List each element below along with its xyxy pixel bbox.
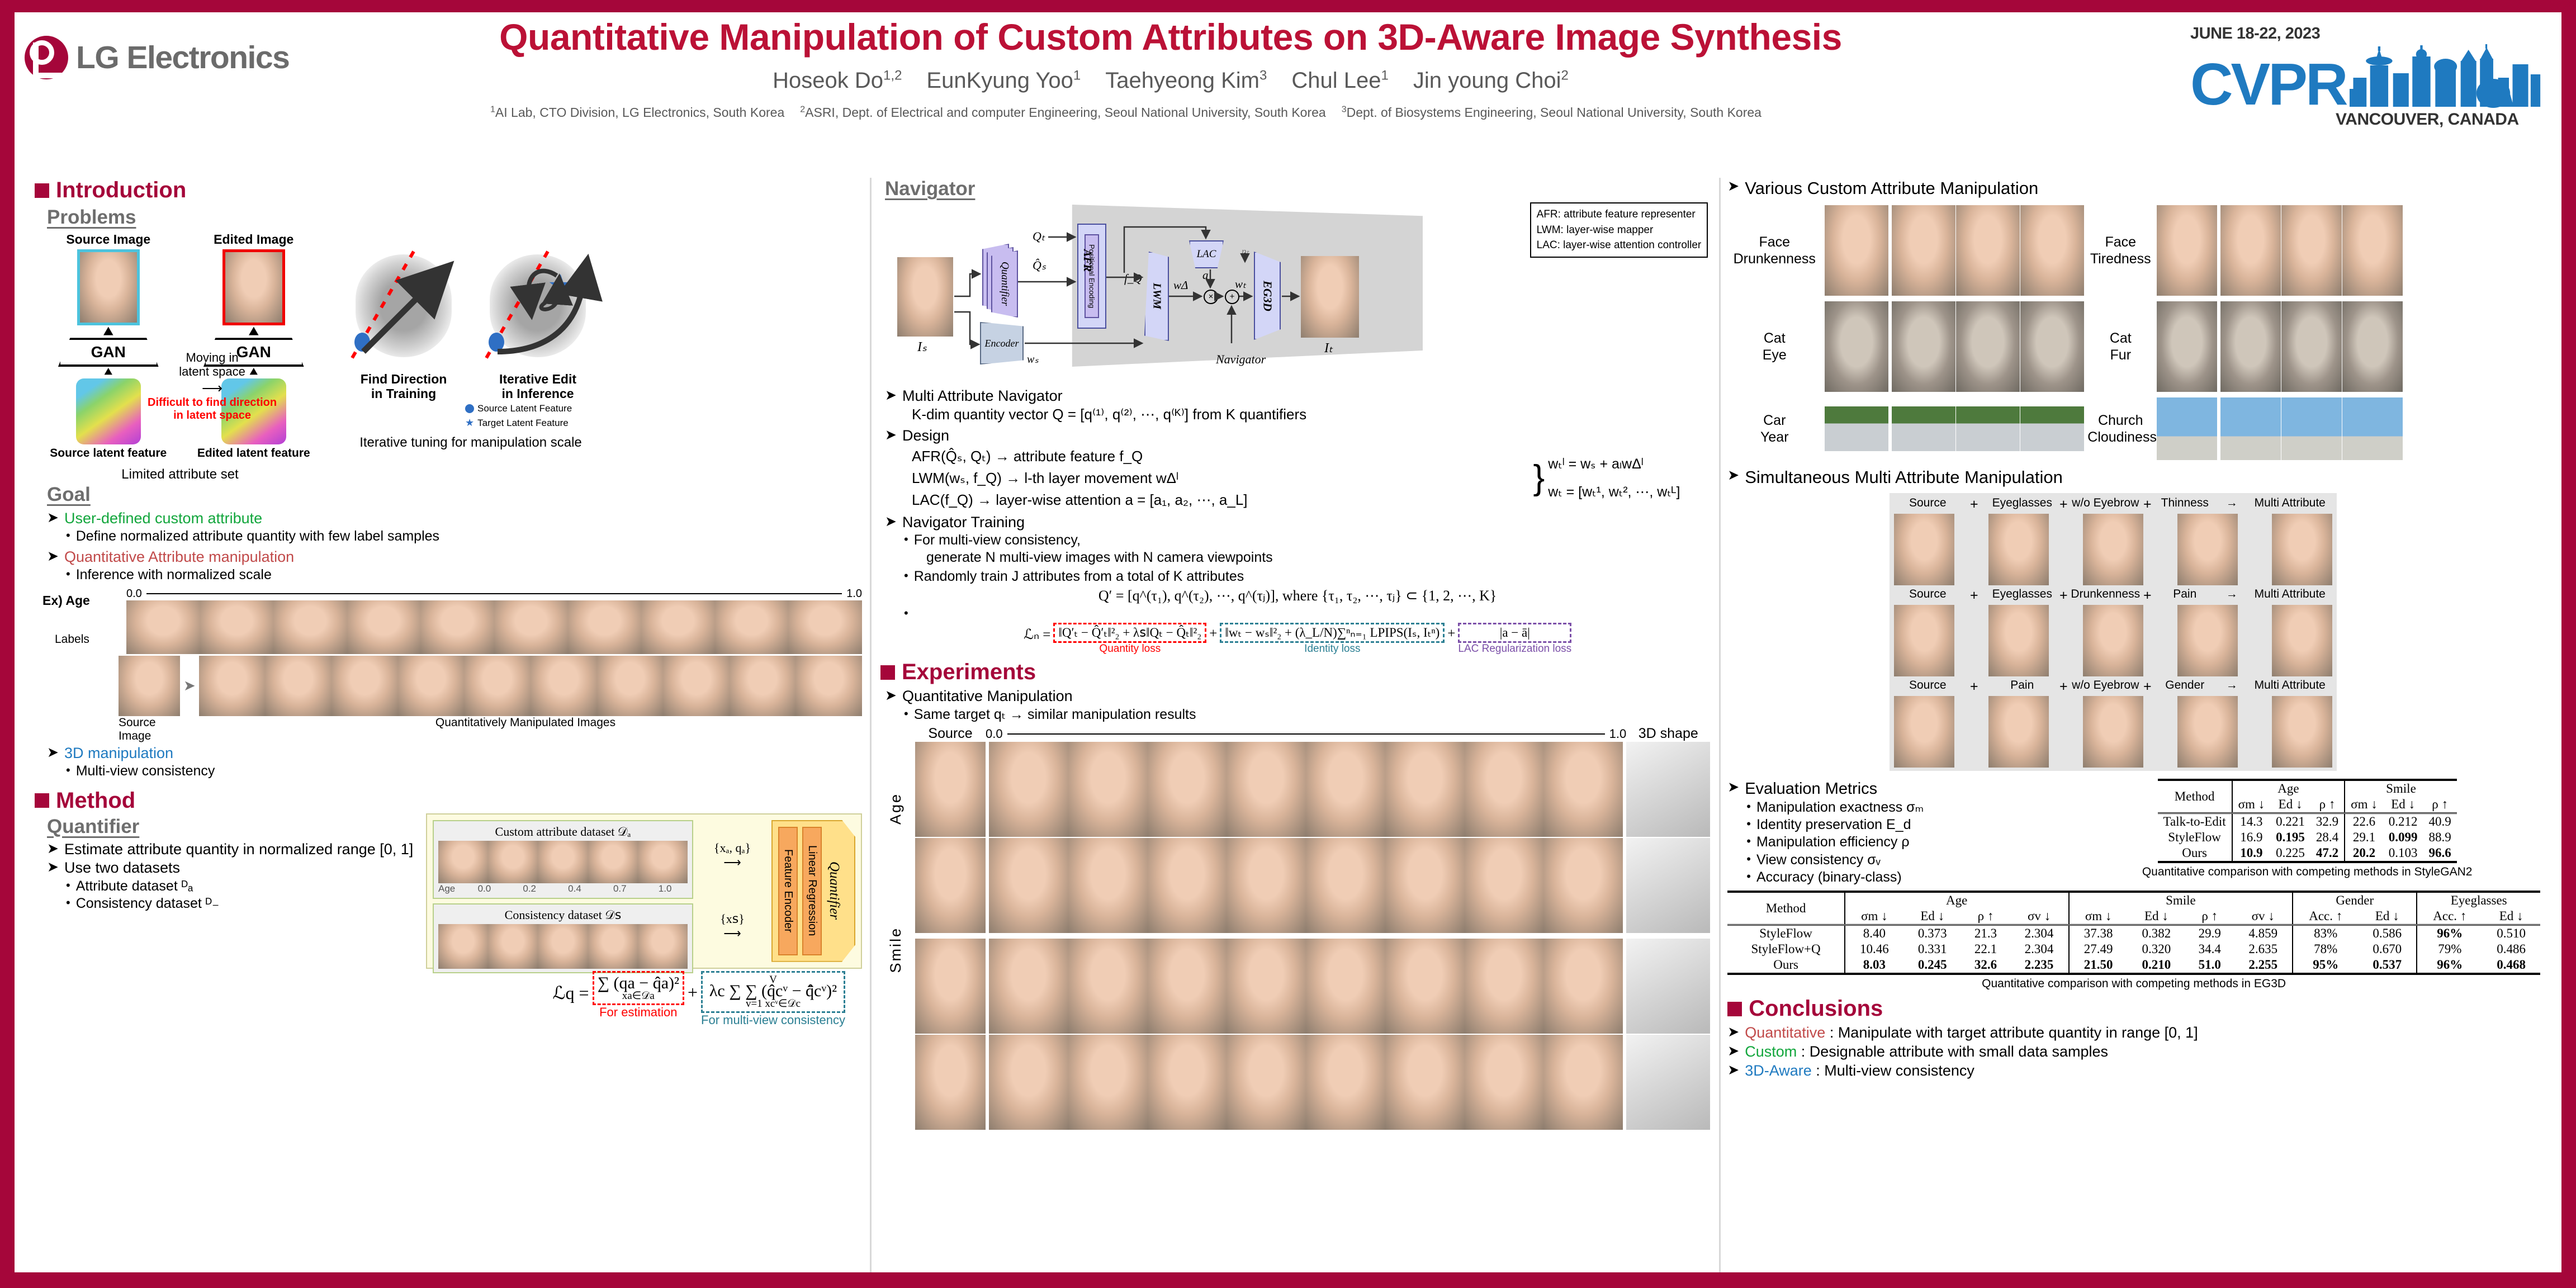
mid-sub-2: • Randomly train J attributes from a tot…	[904, 568, 1710, 585]
age-axis-label: Age	[438, 883, 462, 894]
section-introduction: Introduction	[35, 178, 862, 203]
sim-r1-l1: +	[1961, 496, 1987, 513]
brace-icon: }	[1533, 464, 1545, 492]
loss-term-estimation: ∑ (qa − q̂a)² xa∈𝒟a	[593, 971, 684, 1005]
sim-row-2-images	[1894, 605, 2332, 676]
t2-r1-v0: 10.46	[1845, 941, 1903, 957]
mid-design-lwm: LWM(wₛ, f_Q) → l-th layer movement wΔˡ	[912, 467, 1530, 489]
eval-item-1-text: Manipulation exactness σₘ	[1756, 799, 1924, 816]
up-arrow-icon-3: ⯅	[197, 325, 310, 338]
arrow-bullet-icon-5: ➤	[47, 859, 59, 875]
goal-item-2-text: Quantitative Attribute manipulation	[64, 548, 294, 567]
right-title-simultaneous: ➤ Simultaneous Multi Attribute Manipulat…	[1727, 467, 2540, 489]
loss-plus-sign: +	[688, 971, 698, 1003]
goal-item-1-text: User-defined custom attribute	[64, 509, 262, 528]
mid-bullet-3: ➤ Navigator Training	[885, 513, 1710, 532]
sim-r3-l0: Source	[1894, 679, 1961, 695]
various-label-3a: Car	[1727, 412, 1821, 429]
exp-sub-1-text: Same target qₜ → similar manipulation re…	[914, 706, 1196, 723]
legend-target-latent: Target Latent Feature	[477, 416, 569, 430]
edited-latent-label: Edited latent feature	[197, 447, 310, 460]
dot-bullet-icon-m1: •	[904, 532, 908, 547]
t2-r2-v11: 0.468	[2482, 957, 2540, 974]
t2-c6: Ed ↓	[2128, 908, 2186, 925]
conclusion-2-key: Custom	[1745, 1043, 1797, 1060]
section-title-conclusions: Conclusions	[1749, 996, 1883, 1021]
training-loss-lab1: Quantity loss	[1053, 643, 1206, 655]
quantifier-item-1-text: Estimate attribute quantity in normalize…	[64, 840, 413, 859]
results-table-eg3d: Method Age Smile Gender Eyeglasses σm ↓ …	[1727, 891, 2540, 975]
quantifier-sub-2: • Consistency dataset ᴰ₋	[66, 895, 426, 912]
section-title-method: Method	[56, 788, 135, 813]
results-table-stylegan2: Method Age Smile σm ↓ Ed ↓ ρ ↑ σm ↓ Ed ↓…	[2158, 779, 2457, 863]
age-val-1: 0.2	[507, 883, 552, 894]
sim-r1-l8: Multi Attribute	[2247, 496, 2332, 513]
t2-r2-v7: 2.255	[2234, 957, 2293, 974]
t2-h-age: Age	[1845, 892, 2069, 908]
various-row-1: Face Drunkenness Face Tiredness	[1727, 205, 2540, 296]
training-loss-lab2: Identity loss	[1220, 643, 1445, 655]
age-labels-strip	[126, 600, 862, 654]
navigator-diagram: AFR: attribute feature representer LWM: …	[880, 200, 1710, 385]
right-arrow-icon-age: ➤	[183, 656, 196, 716]
subsection-goal: Goal	[47, 484, 91, 506]
age-val-2: 0.4	[552, 883, 598, 894]
t1-c4: σm ↓	[2345, 797, 2383, 813]
eval-item-3: •Manipulation efficiency ρ	[1746, 834, 2074, 851]
section-method: Method	[35, 788, 862, 813]
simultaneous-grid: Source + Eyeglasses + w/o Eyebrow + Thin…	[1890, 493, 2337, 771]
eval-item-5-text: Accuracy (binary-class)	[1756, 869, 1902, 886]
t2-r1-v3: 2.304	[2010, 941, 2069, 957]
table-row: StyleFlow+Q 10.46 0.331 22.1 2.304 27.49…	[1727, 941, 2540, 957]
t2-r0-v5: 0.382	[2128, 925, 2186, 942]
panel1-label-line2: in Training	[339, 386, 468, 401]
scatter-iterative-edit: ★	[473, 242, 603, 371]
various-label-3d: Cloudiness	[2087, 429, 2153, 446]
t2-r2-v10: 96%	[2417, 957, 2482, 974]
conference-location: VANCOUVER, CANADA	[2336, 110, 2542, 129]
mid-bullet-1-text: Multi Attribute Navigator	[902, 387, 1063, 406]
t2-c5: σm ↓	[2069, 908, 2128, 925]
t2-r1-v5: 0.320	[2128, 941, 2186, 957]
loss-label-estimation: For estimation	[593, 1005, 684, 1020]
section-bullet-square-4	[1727, 1002, 1742, 1016]
author: EunKyung Yoo1	[926, 68, 1081, 93]
feature-encoder-block: Feature Encoder	[778, 827, 798, 955]
panel2-label-line1: Iterative Edit	[473, 372, 603, 386]
t2-r2-v0: 8.03	[1845, 957, 1903, 974]
t1-r2-v1: 0.225	[2270, 845, 2310, 862]
column-left: Introduction Problems Source Image ⯅ GAN…	[29, 178, 870, 1272]
goal-sub-1-text: Define normalized attribute quantity wit…	[76, 528, 439, 545]
loss-term-consistency: V λc ∑ ∑ (q̂cᵛ − q̄̂cᵛ)² v=1 xcᵛ∈𝒟c	[701, 971, 845, 1013]
exp-bullet-1-text: Quantitative Manipulation	[902, 687, 1073, 706]
column-middle: Navigator AFR: attribute feature represe…	[870, 178, 1721, 1272]
conference-name: CVPR	[2190, 60, 2346, 109]
dot-icon-ev1: •	[1746, 799, 1751, 815]
eval-item-3-text: Manipulation efficiency ρ	[1756, 834, 1910, 851]
conclusion-3-key: 3D-Aware	[1745, 1062, 1812, 1079]
poster-root: LG Electronics Quantitative Manipulation…	[0, 0, 2576, 1288]
label-It: Iₜ	[1324, 340, 1333, 356]
latent-space-source	[76, 378, 141, 444]
quantifier-sub-1-text: Attribute dataset ᴰₐ	[76, 878, 193, 895]
mid-brace-eq-1: wₜˡ = wₛ + aₗwΔˡ	[1548, 450, 1710, 478]
mid-sub-3: •	[904, 605, 1710, 621]
conclusion-2-rest: : Designable attribute with small data s…	[1797, 1043, 2108, 1060]
scale-axis	[146, 593, 842, 594]
exp-row-smile-2	[915, 1035, 1710, 1130]
section-title-experiments: Experiments	[902, 660, 1036, 685]
various-label-2b: Eye	[1727, 347, 1821, 363]
t2-r0-v6: 29.9	[2185, 925, 2234, 942]
t2-c4: σv ↓	[2010, 908, 2069, 925]
arrow-bullet-icon-c3: ➤	[1727, 1062, 1739, 1078]
arrow-top-label: {xₐ, qₐ}	[699, 841, 766, 855]
various-label-1b: Drunkenness	[1727, 250, 1821, 267]
t1-c2: Ed ↓	[2270, 797, 2310, 813]
mid-sub-2-text: Randomly train J attributes from a total…	[914, 568, 1244, 585]
eval-item-1: •Manipulation exactness σₘ	[1746, 799, 2074, 816]
sim-r3-l4: w/o Eyebrow	[2070, 679, 2141, 695]
source-image-thumb	[77, 249, 140, 325]
exp-row-age-1	[915, 742, 1710, 837]
t1-r1-m: StyleFlow	[2158, 830, 2232, 845]
t2-r0-v3: 2.304	[2010, 925, 2069, 942]
arrow-bullet-icon-e1: ➤	[885, 687, 897, 704]
t2-h-smile: Smile	[2069, 892, 2293, 908]
age-val-0: 0.0	[462, 883, 507, 894]
t2-r1-v8: 78%	[2293, 941, 2358, 957]
dot-bullet-icon-e1: •	[904, 706, 908, 722]
goal-sub-1: • Define normalized attribute quantity w…	[66, 528, 862, 545]
dot-bullet-icon-m2: •	[904, 568, 908, 584]
table-row: Ours 8.03 0.245 32.6 2.235 21.50 0.210 5…	[1727, 957, 2540, 974]
table-row: StyleFlow 8.40 0.373 21.3 2.304 37.38 0.…	[1727, 925, 2540, 942]
exp-sub-1: • Same target qₜ → similar manipulation …	[904, 706, 1710, 723]
arrow-bullet-icon-r2: ➤	[1727, 467, 1739, 484]
tl-plus2: +	[1447, 623, 1455, 642]
edited-image-label: Edited Image	[197, 232, 310, 247]
loss-label-consistency: For multi-view consistency	[701, 1013, 845, 1027]
sim-r2-l7: →	[2216, 588, 2247, 604]
top-accent-band	[15, 0, 2561, 12]
t1-r1-v2: 28.4	[2310, 830, 2345, 845]
section-conclusions: Conclusions	[1727, 996, 2540, 1021]
t2-h-method: Method	[1727, 892, 1845, 925]
arrow-bullet-icon-2: ➤	[47, 548, 59, 565]
section-bullet-square	[35, 183, 49, 198]
age-val-4: 1.0	[642, 883, 688, 894]
up-arrow-icon: ⯅	[50, 325, 167, 338]
t2-c7: ρ ↑	[2185, 908, 2234, 925]
author: Jin young Choi2	[1413, 68, 1569, 93]
vancouver-skyline-icon	[2350, 43, 2542, 109]
arrow-bullet-icon-r1: ➤	[1727, 178, 1739, 195]
goal-item-3-text: 3D manipulation	[64, 744, 173, 763]
sim-r1-l3: +	[2057, 496, 2070, 513]
manipulated-caption: Quantitatively Manipulated Images	[189, 716, 862, 743]
t2-r1-v10: 79%	[2417, 941, 2482, 957]
conclusion-2: ➤ Custom : Designable attribute with sma…	[1727, 1043, 2540, 1062]
difficult-label-line2: in latent space	[148, 409, 277, 422]
sim-r2-l1: +	[1961, 588, 1987, 604]
goal-sub-2-text: Inference with normalized scale	[76, 566, 272, 584]
t2-h-gender: Gender	[2293, 892, 2417, 908]
arrow-bullet-icon-m1: ➤	[885, 387, 897, 404]
dot-icon-ev5: •	[1746, 869, 1751, 884]
mid-design-lac: LAC(f_Q) → layer-wise attention a = [a₁,…	[912, 489, 1530, 511]
t2-r0-v11: 0.510	[2482, 925, 2540, 942]
dot-icon-ev4: •	[1746, 851, 1751, 867]
t2-r1-v11: 0.486	[2482, 941, 2540, 957]
quantifier-sub-1: • Attribute dataset ᴰₐ	[66, 878, 426, 895]
mid-brace-eq-2: wₜ = [wₜ¹, wₜ², ⋯, wₜᴸ]	[1548, 478, 1710, 506]
table-row: StyleFlow 16.9 0.195 28.4 29.1 0.099 88.…	[2158, 830, 2457, 845]
t2-c3: ρ ↑	[1962, 908, 2010, 925]
lg-logo-icon	[25, 36, 68, 79]
moving-label-line1: Moving in	[148, 351, 277, 364]
mid-bullet-1: ➤ Multi Attribute Navigator	[885, 387, 1710, 406]
eval-item-4-text: View consistency σᵥ	[1756, 851, 1881, 869]
goal-sub-3: • Multi-view consistency	[66, 763, 862, 780]
arrow-bullet-icon-4: ➤	[47, 840, 59, 857]
author: Hoseok Do1,2	[773, 68, 902, 93]
legend-dot-icon	[465, 404, 474, 413]
training-loss-part2: ‖wₜ − wₛ‖²₂ + (λ_L/N)∑ⁿₙ₌₁ LPIPS(Iₛ, Iₜⁿ…	[1220, 623, 1445, 643]
conclusion-3-rest: : Multi-view consistency	[1812, 1062, 1974, 1079]
quantifier-item-2-text: Use two datasets	[64, 859, 180, 878]
t2-c8: σv ↓	[2234, 908, 2293, 925]
exp-shape-header: 3D shape	[1626, 726, 1710, 742]
source-image-label: Source Image	[50, 232, 167, 247]
right-arrow-icon: ⟶	[148, 380, 277, 397]
exp-row-label-age: Age	[887, 793, 905, 825]
dot-bullet-icon-3: •	[66, 763, 70, 778]
t1-r2-v3: 20.2	[2345, 845, 2383, 862]
mid-bullet-2: ➤ Design	[885, 427, 1710, 446]
table1-caption: Quantitative comparison with competing m…	[2074, 865, 2540, 879]
t2-r0-v9: 0.586	[2358, 925, 2417, 942]
sim-r1-l4: w/o Eyebrow	[2070, 496, 2141, 513]
ex-age-label: Ex) Age	[42, 593, 119, 608]
various-label-3c: Church	[2087, 412, 2153, 429]
t2-r0-v10: 96%	[2417, 925, 2482, 942]
t2-r0-v0: 8.40	[1845, 925, 1903, 942]
age-val-3: 0.7	[597, 883, 642, 894]
section-bullet-square-3	[880, 665, 895, 680]
t1-r0-v4: 0.212	[2383, 813, 2423, 830]
exp-scale-max: 1.0	[1609, 727, 1627, 741]
sim-r2-l0: Source	[1894, 588, 1961, 604]
scale-max-label: 1.0	[846, 588, 862, 600]
t2-h-eyeglasses: Eyeglasses	[2417, 892, 2540, 908]
t1-r0-v3: 22.6	[2345, 813, 2383, 830]
legend-source-latent: Source Latent Feature	[477, 401, 572, 416]
eval-item-4: •View consistency σᵥ	[1746, 851, 2074, 869]
gan-block-source: GAN	[58, 338, 159, 367]
t1-r1-v3: 29.1	[2345, 830, 2383, 845]
t1-r2-v2: 47.2	[2310, 845, 2345, 862]
t1-r1-v0: 16.9	[2232, 830, 2271, 845]
sim-row-1-images	[1894, 514, 2332, 585]
caption-iterative-tuning: Iterative tuning for manipulation scale	[325, 435, 616, 451]
arrow-bullet-icon-m3: ➤	[885, 513, 897, 530]
sim-r2-l6: Pain	[2153, 588, 2216, 604]
quantifier-item-2: ➤ Use two datasets	[47, 859, 426, 878]
sim-r1-l2: Eyeglasses	[1987, 496, 2057, 513]
t1-r0-m: Talk-to-Edit	[2158, 813, 2232, 830]
arrow-bullet-icon-c1: ➤	[1727, 1024, 1739, 1040]
conclusion-1-key: Quantitative	[1745, 1024, 1825, 1041]
dot-icon-ev3: •	[1746, 834, 1751, 849]
t2-r2-v5: 0.210	[2128, 957, 2186, 974]
eval-item-2-text: Identity preservation E_d	[1756, 816, 1911, 834]
training-loss-part1: ‖Q′ₜ − Q̂′ₜ‖²₂ + λꜱ‖Qₜ − Q̂ₜ‖²₂	[1053, 623, 1206, 643]
section-experiments: Experiments	[880, 660, 1710, 685]
t2-r2-v3: 2.235	[2010, 957, 2069, 974]
page-title: Quantitative Manipulation of Custom Attr…	[171, 18, 2170, 56]
sim-row-3-images	[1894, 696, 2332, 768]
t2-r2-v4: 21.50	[2069, 957, 2128, 974]
t2-r0-v8: 83%	[2293, 925, 2358, 942]
section-bullet-square-2	[35, 793, 49, 808]
sim-r3-l6: Gender	[2153, 679, 2216, 695]
subsection-problems: Problems	[47, 206, 136, 229]
t1-r2-m: Ours	[2158, 845, 2232, 862]
sim-r2-l3: +	[2057, 588, 2070, 604]
affiliation-list: 1AI Lab, CTO Division, LG Electronics, S…	[48, 105, 2204, 120]
eval-title: ➤ Evaluation Metrics	[1727, 779, 2074, 799]
t2-r1-m: StyleFlow+Q	[1727, 941, 1845, 957]
t1-h-smile: Smile	[2345, 780, 2457, 797]
table2-caption: Quantitative comparison with competing m…	[1727, 977, 2540, 991]
subsection-navigator: Navigator	[885, 178, 975, 200]
mid-qprime-eq: Q′ = [q^(τ₁), q^(τ₂), ⋯, q^(τⱼ)], where …	[885, 588, 1710, 604]
author: Taehyeong Kim3	[1105, 68, 1267, 93]
various-row-3: Car Year Church Cloudiness	[1727, 397, 2540, 460]
caption-limited-attribute-set: Limited attribute set	[35, 467, 325, 482]
t2-c2: Ed ↓	[1903, 908, 1962, 925]
scale-min-label: 0.0	[126, 588, 142, 600]
t2-c10: Ed ↓	[2358, 908, 2417, 925]
goal-item-1: ➤ User-defined custom attribute	[47, 509, 862, 528]
arrow-bullet-icon-c2: ➤	[1727, 1043, 1739, 1059]
mid-design-afr: AFR(Q̂ₛ, Qₜ) → attribute feature f_Q	[912, 446, 1530, 467]
section-title-text: Introduction	[56, 178, 186, 203]
arrow-right-icon-q2: ⟶	[699, 926, 766, 941]
legend-star-icon: ★	[465, 415, 474, 430]
quantifier-diagram: Custom attribute dataset 𝒟ₐ Age 0.0 0	[426, 813, 862, 969]
t2-r1-v2: 22.1	[1962, 941, 2010, 957]
attr-dataset-strip	[438, 841, 688, 883]
t1-r2-v0: 10.9	[2232, 845, 2271, 862]
source-latent-label: Source latent feature	[50, 447, 167, 460]
t2-c9: Acc. ↑	[2293, 908, 2358, 925]
table-row: Ours 10.9 0.225 47.2 20.2 0.103 96.6	[2158, 845, 2457, 862]
sim-r1-l0: Source	[1894, 496, 1961, 513]
t2-r2-v2: 32.6	[1962, 957, 2010, 974]
sim-r2-l5: +	[2141, 588, 2153, 604]
dot-bullet-icon-2: •	[66, 566, 70, 582]
exp-row-label-smile: Smile	[887, 927, 905, 973]
t1-c6: ρ ↑	[2423, 797, 2456, 813]
t1-h-method: Method	[2158, 780, 2232, 813]
t2-c11: Acc. ↑	[2417, 908, 2482, 925]
arrow-bullet-icon: ➤	[47, 509, 59, 526]
t1-r0-v1: 0.221	[2270, 813, 2310, 830]
source-image-age	[119, 656, 180, 716]
various-label-2d: Fur	[2087, 347, 2153, 363]
exp-bullet-1: ➤ Quantitative Manipulation	[885, 687, 1710, 706]
various-label-2c: Cat	[2087, 330, 2153, 347]
conclusion-1-rest: : Manipulate with target attribute quant…	[1825, 1024, 2198, 1041]
t1-h-age: Age	[2232, 780, 2345, 797]
right-title-various-text: Various Custom Attribute Manipulation	[1745, 178, 2038, 200]
t1-r0-v0: 14.3	[2232, 813, 2271, 830]
eval-item-5: •Accuracy (binary-class)	[1746, 869, 2074, 886]
training-loss-lhs: ℒₙ =	[1024, 623, 1050, 643]
t2-r1-v6: 34.4	[2185, 941, 2234, 957]
author: Chul Lee1	[1291, 68, 1388, 93]
panel2-label-line2: in Inference	[473, 386, 603, 401]
affiliation: 3Dept. of Biosystems Engineering, Seoul …	[1342, 105, 1761, 120]
various-label-1a: Face	[1727, 234, 1821, 250]
quantifier-block-name: Quantifier	[826, 861, 842, 920]
various-row-2: Cat Eye Cat Fur	[1727, 301, 2540, 392]
t2-r0-v4: 37.38	[2069, 925, 2128, 942]
t2-r0-v2: 21.3	[1962, 925, 2010, 942]
t1-r1-v1: 0.195	[2270, 830, 2310, 845]
sim-r2-l4: Drunkenness	[2070, 588, 2141, 604]
dot-bullet-icon-4: •	[66, 878, 70, 893]
training-loss-lab3: LAC Regularization loss	[1458, 643, 1571, 655]
various-label-1c: Face	[2087, 234, 2153, 250]
column-right: ➤ Various Custom Attribute Manipulation …	[1721, 178, 2547, 1272]
dot-bullet-icon-5: •	[66, 895, 70, 911]
exp-source-header: Source	[915, 726, 986, 742]
t1-c5: Ed ↓	[2383, 797, 2423, 813]
t1-r2-v4: 0.103	[2383, 845, 2423, 862]
dot-bullet-icon: •	[66, 528, 70, 543]
t1-r0-v2: 32.9	[2310, 813, 2345, 830]
exp-scale-axis	[1007, 733, 1605, 735]
quantifier-sub-2-text: Consistency dataset ᴰ₋	[76, 895, 220, 912]
t1-r2-v5: 96.6	[2423, 845, 2456, 862]
affiliation: 1AI Lab, CTO Division, LG Electronics, S…	[490, 105, 784, 120]
training-loss-part3: |a − ā|	[1458, 623, 1571, 643]
eval-title-text: Evaluation Metrics	[1745, 779, 1877, 799]
edited-image-thumb	[222, 249, 285, 325]
arrow-bullet-icon-r3: ➤	[1727, 779, 1739, 795]
t2-r2-v1: 0.245	[1903, 957, 1962, 974]
sim-r1-l6: Thinness	[2153, 496, 2216, 513]
moving-label-line2: latent space	[148, 364, 277, 378]
t2-r2-v8: 95%	[2293, 957, 2358, 974]
labels-row-label: Labels	[55, 633, 119, 646]
tl-plus1: +	[1209, 623, 1217, 642]
various-label-1d: Tiredness	[2087, 250, 2153, 267]
sim-r2-l2: Eyeglasses	[1987, 588, 2057, 604]
arrow-right-icon-q1: ⟶	[699, 855, 766, 870]
various-label-3b: Year	[1727, 429, 1821, 446]
arrow-bullet-icon-m2: ➤	[885, 427, 897, 443]
cons-dataset-title: Consistency dataset 𝒟ꜱ	[438, 908, 688, 922]
t2-r1-v1: 0.331	[1903, 941, 1962, 957]
cvpr-logo: JUNE 18-22, 2023 CVPR	[2190, 25, 2542, 129]
exp-scale-min: 0.0	[986, 727, 1003, 741]
